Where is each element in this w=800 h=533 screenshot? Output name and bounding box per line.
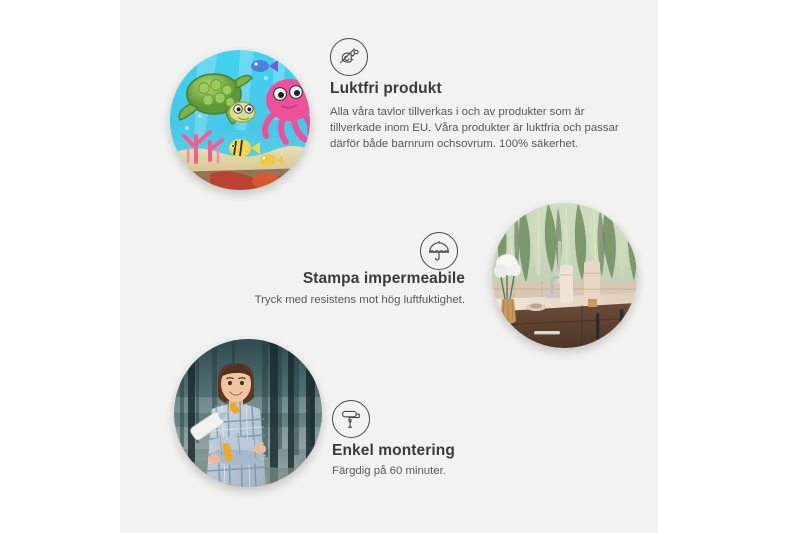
product-features-infographic: Luktfri produkt Alla våra tavlor tillver… <box>0 0 800 533</box>
umbrella-icon <box>420 232 458 270</box>
bathroom-interior-photo <box>492 203 637 348</box>
feature-title: Enkel montering <box>332 442 592 460</box>
feature-title: Luktfri produkt <box>330 80 630 98</box>
feature-text-easy-mounting: Enkel montering Färgdig på 60 minuter. <box>332 442 592 479</box>
paint-roller-icon <box>332 400 370 438</box>
feature-description: Tryck med resistens mot hög luftfuktighe… <box>180 292 465 308</box>
feature-title: Stampa impermeabile <box>180 270 465 288</box>
underwater-cartoon-photo <box>170 50 310 190</box>
no-scent-icon <box>330 38 368 76</box>
feature-description: Färgdig på 60 minuter. <box>332 463 592 479</box>
installer-forest-photo <box>174 339 322 487</box>
feature-text-odour-free: Luktfri produkt Alla våra tavlor tillver… <box>330 80 630 153</box>
feature-text-waterproof: Stampa impermeabile Tryck med resistens … <box>180 270 465 308</box>
feature-description: Alla våra tavlor tillverkas i och av pro… <box>330 104 630 153</box>
